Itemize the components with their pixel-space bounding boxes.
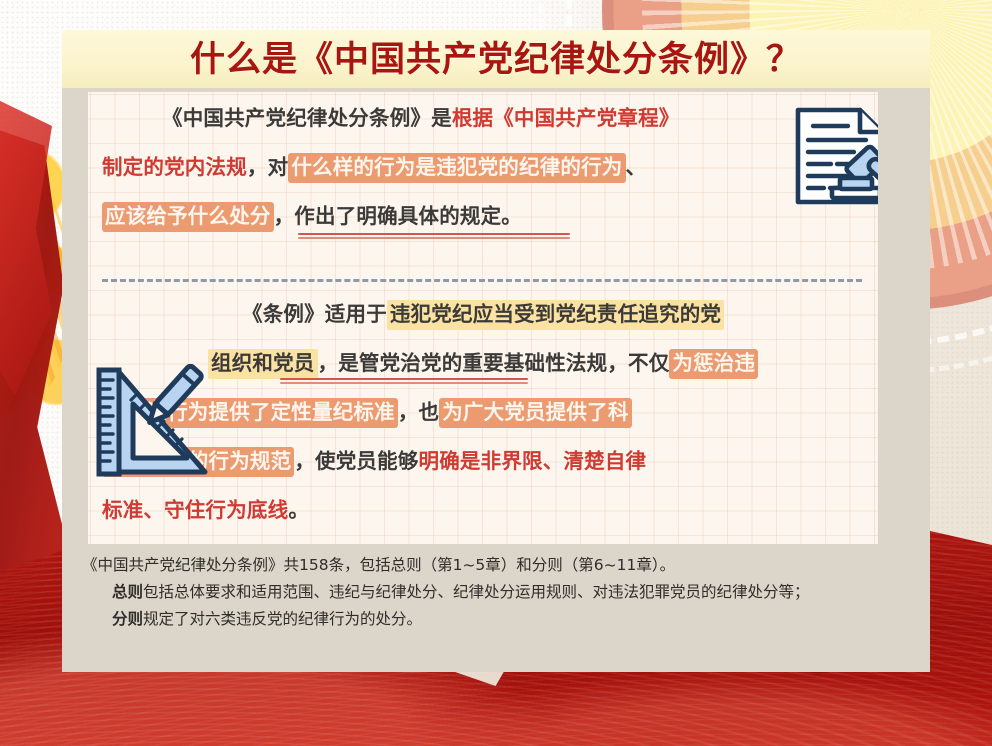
p1-l2-text-b: ，对 bbox=[247, 156, 288, 179]
paragraph-2-line-4: 学、合理的行为规范，使党员能够明确是非界限、清楚自律 bbox=[102, 437, 872, 486]
p2-l2-highlight: 组织和党员 bbox=[208, 349, 318, 379]
p1-l1-text-a: 《中国共产党纪律处分条例》是 bbox=[162, 107, 452, 130]
p1-l3-text-b: ，作出了明确具体的规定。 bbox=[274, 205, 522, 228]
title-banner: 什么是《中国共产党纪律处分条例》？ bbox=[62, 30, 930, 88]
paragraph-1-line-2: 制定的党内法规，对什么样的行为是违犯党的纪律的行为、 bbox=[102, 143, 802, 192]
p2-l3-text-b: ，也 bbox=[398, 401, 439, 424]
footer-line-3-bold: 分则 bbox=[112, 610, 143, 628]
paragraph-2-line-1: 《条例》适用于违犯党纪应当受到党纪责任追究的党 bbox=[102, 290, 872, 339]
footer-line-2-bold: 总则 bbox=[112, 583, 143, 601]
ruler-pencil-icon bbox=[93, 360, 211, 484]
p2-l1-highlight: 违犯党纪应当受到党纪责任追究的党 bbox=[387, 300, 724, 330]
footer-description: 《中国共产党纪律处分条例》共158条，包括总则（第1~5章）和分则（第6~11章… bbox=[82, 552, 918, 633]
p1-l3-highlight: 应该给予什么处分 bbox=[102, 202, 274, 232]
dashed-divider bbox=[102, 279, 862, 282]
p1-l2-text-a: 制定的党内法规 bbox=[102, 156, 247, 179]
paragraph-2-line-5: 标准、守住行为底线。 bbox=[102, 486, 872, 535]
footer-line-3: 分则规定了对六类违反党的纪律行为的处分。 bbox=[82, 606, 918, 633]
p2-l5-text-a: 标准、守住行为底线 bbox=[102, 499, 288, 522]
p2-l4-text-c: 明确是非界限、清楚自律 bbox=[419, 450, 647, 473]
p2-l4-text-b: ，使党员能够 bbox=[294, 450, 418, 473]
paragraph-2-line-3: 纪违法行为提供了定性量纪标准，也为广大党员提供了科 bbox=[102, 388, 872, 437]
grid-note-panel: 《中国共产党纪律处分条例》是根据《中国共产党章程》 制定的党内法规，对什么样的行… bbox=[88, 92, 878, 544]
p1-l2-text-d: 、 bbox=[626, 156, 647, 179]
p2-l2-text-b: ，是管党治党的重要基础性法规，不仅 bbox=[318, 352, 670, 375]
p2-l5-text-b: 。 bbox=[288, 499, 309, 522]
footer-line-2: 总则包括总体要求和适用范围、违纪与纪律处分、纪律处分运用规则、对违法犯罪党员的纪… bbox=[82, 579, 918, 606]
footer-line-3-rest: 规定了对六类违反党的纪律行为的处分。 bbox=[143, 610, 422, 628]
p2-l3-highlight-2: 为广大党员提供了科 bbox=[439, 398, 631, 428]
paragraph-scope: 《条例》适用于违犯党纪应当受到党纪责任追究的党 组织和党员，是管党治党的重要基础… bbox=[102, 290, 872, 535]
p1-l1-text-b: 根据《中国共产党章程》 bbox=[452, 107, 680, 130]
paragraph-1-line-3: 应该给予什么处分，作出了明确具体的规定。 bbox=[102, 192, 802, 241]
paragraph-1-line-1: 《中国共产党纪律处分条例》是根据《中国共产党章程》 bbox=[102, 94, 802, 143]
document-gavel-icon bbox=[788, 100, 878, 220]
p1-l2-highlight: 什么样的行为是违犯党的纪律的行为 bbox=[288, 153, 625, 183]
p2-l2-highlight-2: 为惩治违 bbox=[669, 349, 758, 379]
footer-line-2-rest: 包括总体要求和适用范围、违纪与纪律处分、纪律处分运用规则、对违法犯罪党员的纪律处… bbox=[143, 583, 810, 601]
content-card: 《中国共产党纪律处分条例》是根据《中国共产党章程》 制定的党内法规，对什么样的行… bbox=[62, 88, 930, 672]
p2-l1-text-a: 《条例》适用于 bbox=[242, 303, 387, 326]
footer-line-1: 《中国共产党纪律处分条例》共158条，包括总则（第1~5章）和分则（第6~11章… bbox=[82, 552, 918, 579]
paragraph-2-line-2: 组织和党员，是管党治党的重要基础性法规，不仅为惩治违 bbox=[102, 339, 872, 388]
paragraph-definition: 《中国共产党纪律处分条例》是根据《中国共产党章程》 制定的党内法规，对什么样的行… bbox=[102, 94, 802, 241]
page-title: 什么是《中国共产党纪律处分条例》？ bbox=[190, 42, 802, 77]
